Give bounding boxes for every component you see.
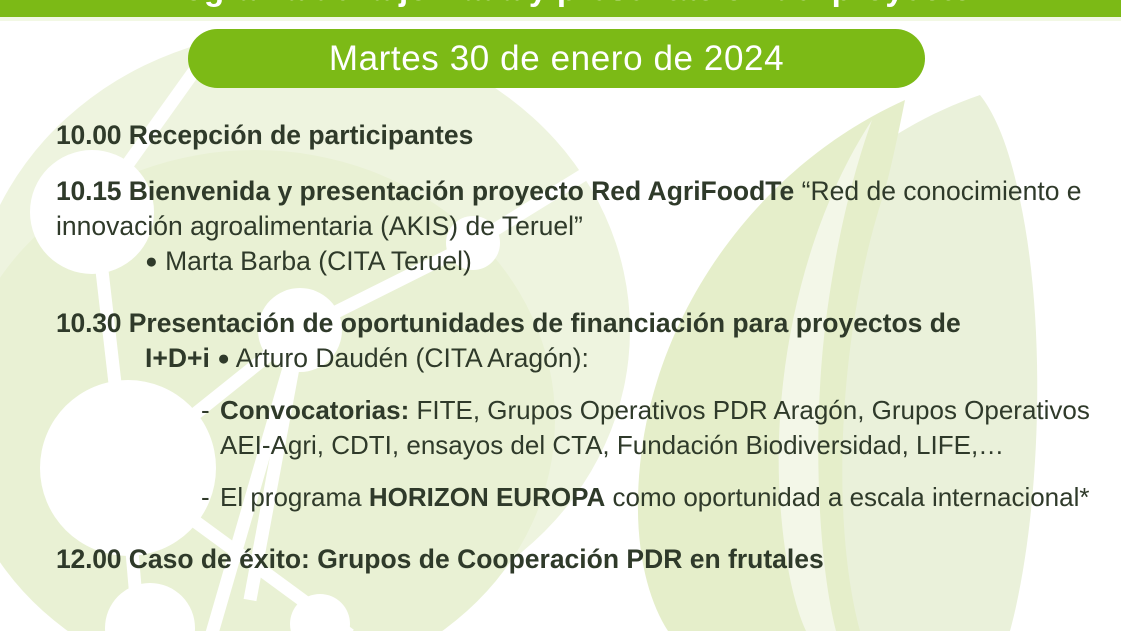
bullet-dot-icon: ● <box>217 347 230 370</box>
agenda-speaker-1030-name: Arturo Daudén (CITA Aragón): <box>236 343 589 373</box>
agenda-item-1000-line: 10.00 Recepción de participantes <box>56 118 1111 153</box>
top-banner: Programa de la jornada y presentación de… <box>0 0 1121 17</box>
agenda-subitem-horizon-prefix: El programa <box>220 482 362 512</box>
agenda-item-1200: 12.00 Caso de éxito: Grupos de Cooperaci… <box>0 542 1121 577</box>
poster-page: Programa de la jornada y presentación de… <box>0 0 1121 631</box>
agenda-time-1015: 10.15 <box>56 176 121 206</box>
agenda-subitem-horizon-label: HORIZON EUROPA <box>369 482 605 512</box>
agenda-time-1030: 10.30 <box>56 308 121 338</box>
agenda-item-1015: 10.15 Bienvenida y presentación proyecto… <box>0 174 1121 279</box>
agenda-title-1015: Bienvenida y presentación proyecto Red A… <box>129 176 795 206</box>
agenda-item-1030: 10.30 Presentación de oportunidades de f… <box>0 306 1121 515</box>
agenda-subitem-horizon-suffix: como oportunidad a escala internacional* <box>613 482 1090 512</box>
agenda-title-1030-cont: I+D+i <box>145 343 210 373</box>
agenda-subitem-horizon-body: El programa HORIZON EUROPA como oportuni… <box>201 480 1111 515</box>
agenda-item-1015-line: 10.15 Bienvenida y presentación proyecto… <box>56 174 1111 244</box>
agenda-subitem-convocatorias-body: Convocatorias: FITE, Grupos Operativos P… <box>201 393 1111 463</box>
top-banner-title: Programa de la jornada y presentación de… <box>0 0 1121 8</box>
bullet-dot-icon: ● <box>145 250 158 273</box>
agenda-speaker-1015: ● Marta Barba (CITA Teruel) <box>56 244 1111 279</box>
agenda-time-1200: 12.00 <box>56 544 121 574</box>
agenda-title-1200: Caso de éxito: Grupos de Cooperación PDR… <box>129 544 824 574</box>
date-pill: Martes 30 de enero de 2024 <box>188 29 925 88</box>
banner-underline <box>0 17 1121 21</box>
agenda-item-1000: 10.00 Recepción de participantes <box>0 118 1121 153</box>
agenda-item-1030-line2: I+D+i ● Arturo Daudén (CITA Aragón): <box>56 341 1111 376</box>
agenda-title-1030: Presentación de oportunidades de financi… <box>129 308 961 338</box>
dash-icon: - <box>201 393 210 428</box>
date-pill-label: Martes 30 de enero de 2024 <box>329 39 784 79</box>
agenda-item-1030-line1: 10.30 Presentación de oportunidades de f… <box>56 306 1111 341</box>
dash-icon: - <box>201 480 210 515</box>
agenda-subitem-horizon: - El programa HORIZON EUROPA como oportu… <box>56 480 1111 515</box>
agenda-speaker-1015-name: Marta Barba (CITA Teruel) <box>165 246 472 276</box>
agenda-subitem-convocatorias-label: Convocatorias: <box>220 395 409 425</box>
agenda-subitem-convocatorias: - Convocatorias: FITE, Grupos Operativos… <box>56 393 1111 463</box>
agenda-item-1200-line: 12.00 Caso de éxito: Grupos de Cooperaci… <box>56 542 1111 577</box>
agenda-title-1000: Recepción de participantes <box>129 120 474 150</box>
agenda-time-1000: 10.00 <box>56 120 121 150</box>
agenda-list: 10.00 Recepción de participantes 10.15 B… <box>0 118 1121 588</box>
